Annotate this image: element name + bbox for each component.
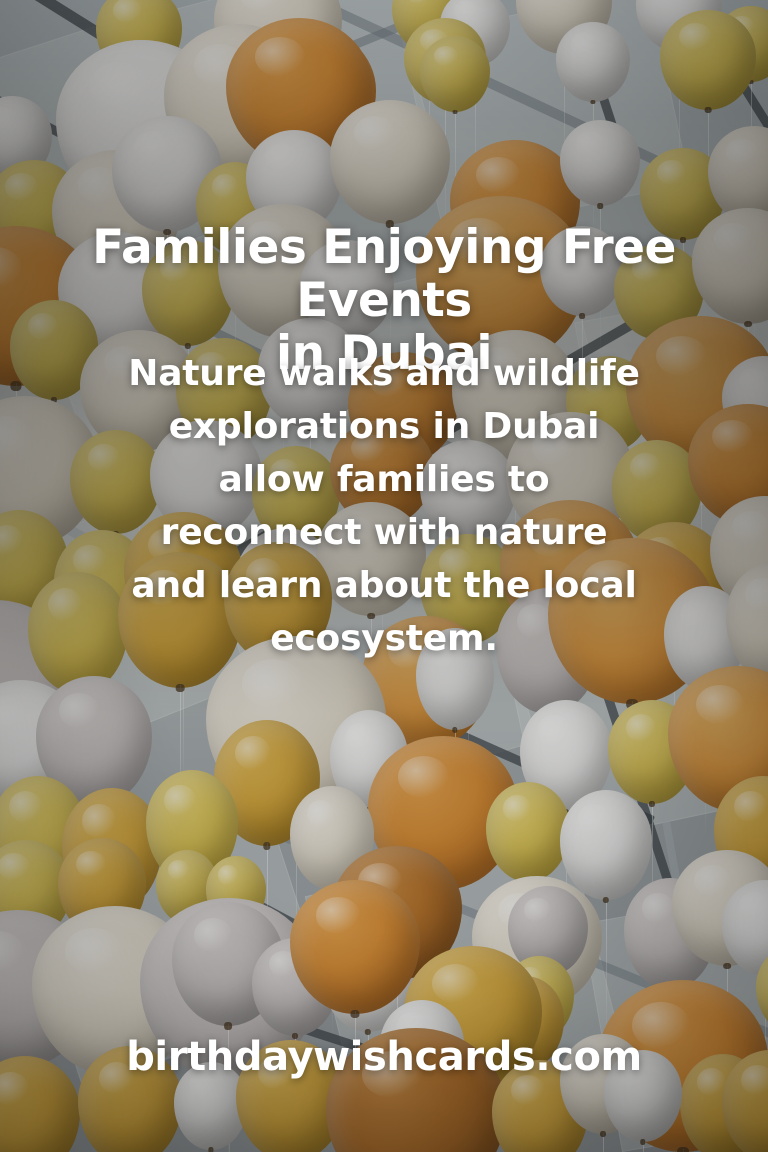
social-card: Families Enjoying Free Events in Dubai N… bbox=[0, 0, 768, 1152]
text-overlay: Families Enjoying Free Events in Dubai N… bbox=[0, 0, 768, 1152]
description-text: Nature walks and wildlife explorations i… bbox=[0, 348, 768, 665]
site-watermark: birthdaywishcards.com bbox=[0, 1034, 768, 1080]
